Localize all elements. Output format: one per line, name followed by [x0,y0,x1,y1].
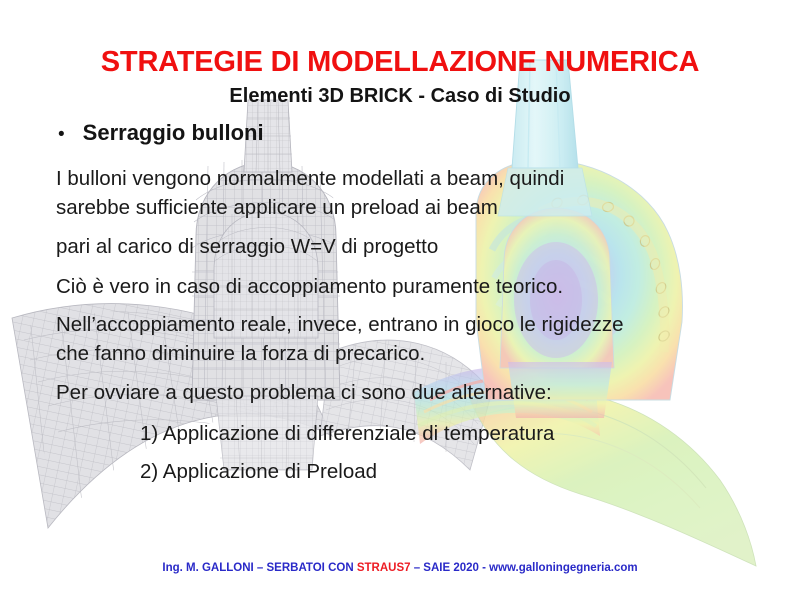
bullet-heading-label: Serraggio bulloni [83,120,264,146]
body-line: che fanno diminuire la forza di precaric… [56,339,756,368]
body-line: Nell’accoppiamento reale, invece, entran… [56,310,756,339]
body-paragraph-2: pari al carico di serraggio W=V di proge… [56,232,756,261]
body-line: Ciò è vero in caso di accoppiamento pura… [56,272,756,301]
bullet-point-icon: • [58,125,65,144]
slide-footer: Ing. M. GALLONI – SERBATOI CON STRAUS7 –… [0,562,800,574]
body-paragraph-5: Per ovviare a questo problema ci sono du… [56,378,756,407]
footer-text-part-2: – SAIE 2020 - www.galloningegneria.com [411,562,638,574]
numbered-item-2: 2) Applicazione di Preload [140,457,377,486]
slide-text-layer: STRATEGIE DI MODELLAZIONE NUMERICA Eleme… [0,0,800,600]
bullet-heading-row: • Serraggio bulloni [58,120,264,146]
body-paragraph-1: I bulloni vengono normalmente modellati … [56,164,756,222]
body-line: pari al carico di serraggio W=V di proge… [56,232,756,261]
numbered-item-1: 1) Applicazione di differenziale di temp… [140,419,554,448]
body-paragraph-3: Ciò è vero in caso di accoppiamento pura… [56,272,756,301]
body-line: I bulloni vengono normalmente modellati … [56,164,756,193]
page-subtitle: Elementi 3D BRICK - Caso di Studio [0,85,800,108]
footer-text-part-1: Ing. M. GALLONI – SERBATOI CON [162,562,356,574]
presentation-slide: STRATEGIE DI MODELLAZIONE NUMERICA Eleme… [0,0,800,600]
footer-accent-straus7: STRAUS7 [357,562,411,574]
body-paragraph-4: Nell’accoppiamento reale, invece, entran… [56,310,756,368]
body-line: sarebbe sufficiente applicare un preload… [56,193,756,222]
body-line: Per ovviare a questo problema ci sono du… [56,378,756,407]
page-title: STRATEGIE DI MODELLAZIONE NUMERICA [0,46,800,79]
